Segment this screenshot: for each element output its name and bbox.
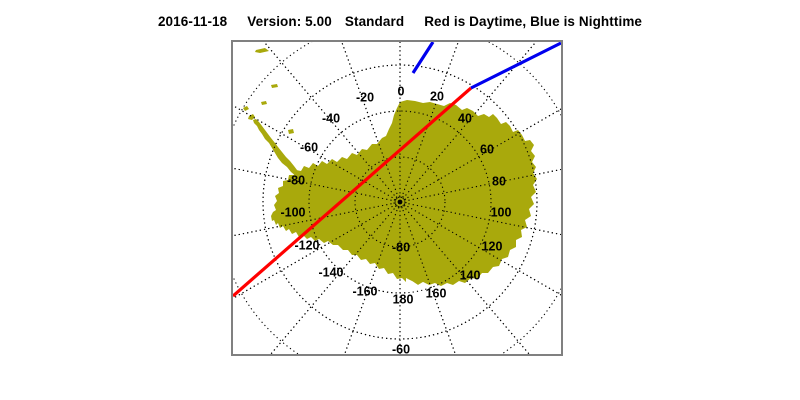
lon-label-neg20: -20 [356,90,374,104]
lon-label-100: 100 [491,205,512,219]
lon-label-40: 40 [458,111,472,125]
figure-title: 2016-11-18Version: 5.00StandardRed is Da… [0,14,800,29]
lat-label-minus60: -60 [392,342,410,356]
title-version: Version: 5.00 [247,14,332,29]
polar-map-plot: 0 20 40 60 80 100 120 140 160 180 -160 -… [231,40,563,356]
figure-canvas: 2016-11-18Version: 5.00StandardRed is Da… [0,0,800,400]
lon-label-140: 140 [460,268,481,282]
lon-label-60: 60 [480,142,494,156]
lon-label-120: 120 [482,239,503,253]
south-pole-dot [398,200,403,205]
lon-label-180: 180 [393,292,414,306]
lon-label-neg140: -140 [318,265,343,279]
lon-label-0: 0 [398,84,405,98]
lon-label-neg120: -120 [294,238,319,252]
lon-label-neg100: -100 [280,205,305,219]
title-date: 2016-11-18 [158,14,227,29]
title-product: Standard [345,14,404,29]
lat-label-minus80: -80 [392,240,410,254]
lon-label-neg60: -60 [300,140,318,154]
lon-label-neg80: -80 [287,173,305,187]
lon-label-neg160: -160 [352,284,377,298]
map-svg: 0 20 40 60 80 100 120 140 160 180 -160 -… [231,40,563,356]
lon-label-neg40: -40 [322,111,340,125]
lon-label-160: 160 [426,286,447,300]
lon-label-20: 20 [430,89,444,103]
lon-label-80: 80 [492,174,506,188]
title-legend: Red is Daytime, Blue is Nighttime [424,14,642,29]
